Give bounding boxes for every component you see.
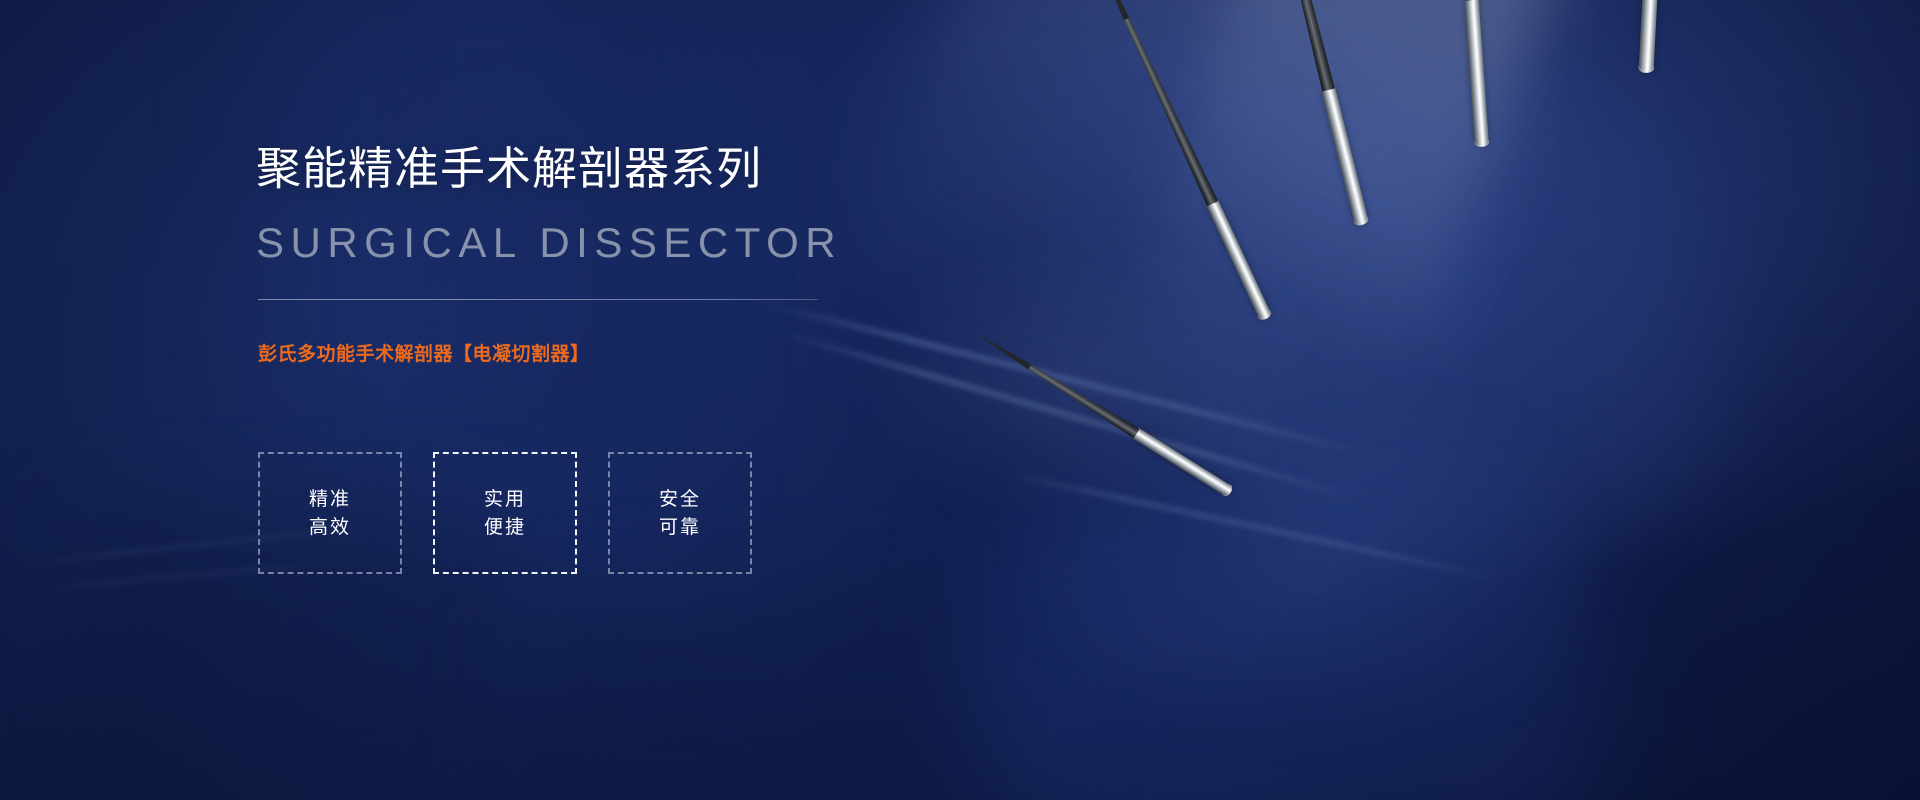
feature-badge-1: 精准 高效	[258, 452, 402, 574]
feature-badge-2-line1: 实用	[484, 490, 526, 509]
instrument-handle	[1206, 199, 1272, 321]
feature-badge-group: 精准 高效 实用 便捷 安全 可靠	[258, 452, 752, 574]
feature-badge-1-line2: 高效	[309, 518, 351, 537]
product-instruments	[1140, 0, 1920, 800]
feature-badge-2-line2: 便捷	[484, 518, 526, 537]
product-name-label: 彭氏多功能手术解剖器【电凝切割器】	[258, 339, 590, 366]
instrument-handle	[1321, 86, 1368, 225]
feature-badge-3: 安全 可靠	[608, 452, 752, 574]
feature-badge-3-line2: 可靠	[659, 518, 701, 537]
instrument-shaft	[1267, 0, 1335, 92]
instrument-handle	[1465, 0, 1489, 146]
hero-banner: 聚能精准手术解剖器系列 SURGICAL DISSECTOR 彭氏多功能手术解剖…	[0, 0, 1920, 800]
feature-badge-3-line1: 安全	[659, 490, 701, 509]
feature-badge-2: 实用 便捷	[433, 452, 577, 574]
title-divider	[258, 299, 818, 300]
instrument-handle	[1132, 428, 1233, 498]
feature-badge-1-line1: 精准	[309, 490, 351, 509]
page-title: 聚能精准手术解剖器系列	[256, 146, 762, 191]
hero-text-block: 聚能精准手术解剖器系列 SURGICAL DISSECTOR 彭氏多功能手术解剖…	[256, 0, 976, 800]
page-subtitle-english: SURGICAL DISSECTOR	[256, 222, 842, 264]
instrument-handle	[1639, 0, 1662, 72]
